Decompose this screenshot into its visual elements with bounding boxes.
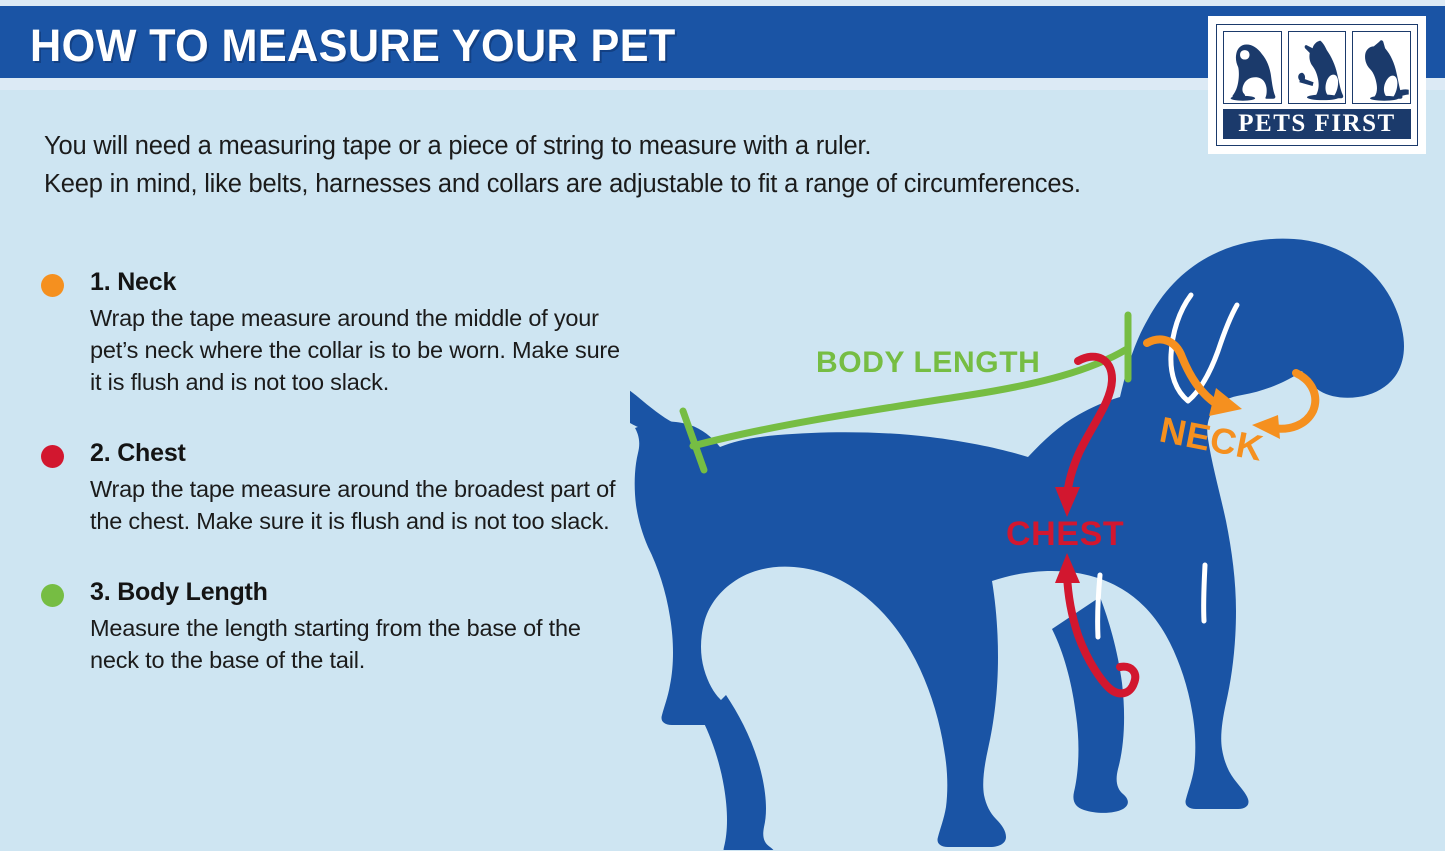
measurement-steps-list: 1. Neck Wrap the tape measure around the… (38, 268, 638, 717)
bullet-dot-body-length (41, 584, 64, 607)
alert-dog-silhouette-icon (1352, 31, 1411, 104)
bottom-accent-strip (0, 851, 1445, 860)
logo-wordmark: PETS FIRST (1223, 109, 1411, 139)
logo-dog-panels (1223, 31, 1411, 104)
step-title-body-length: 3. Body Length (90, 578, 638, 607)
step-body-neck: Wrap the tape measure around the middle … (90, 302, 635, 398)
label-body-length: BODY LENGTH (816, 346, 1040, 379)
intro-line-2: Keep in mind, like belts, harnesses and … (44, 165, 1194, 203)
page-title: HOW TO MEASURE YOUR PET (30, 20, 676, 72)
bullet-dot-chest (41, 445, 64, 468)
intro-paragraph: You will need a measuring tape or a piec… (44, 127, 1194, 203)
step-body-chest: Wrap the tape measure around the broades… (90, 473, 635, 537)
step-item-body-length: 3. Body Length Measure the length starti… (38, 578, 638, 676)
step-title-chest: 2. Chest (90, 439, 638, 468)
dog-measurement-diagram: BODY LENGTH NECK CHEST (630, 225, 1445, 850)
sitting-dog-silhouette-icon (1223, 31, 1282, 104)
step-body-body-length: Measure the length starting from the bas… (90, 612, 635, 676)
label-chest: CHEST (1006, 515, 1124, 553)
intro-line-1: You will need a measuring tape or a piec… (44, 127, 1194, 165)
pets-first-logo: PETS FIRST (1208, 16, 1426, 154)
step-item-chest: 2. Chest Wrap the tape measure around th… (38, 439, 638, 537)
logo-frame: PETS FIRST (1216, 24, 1418, 146)
step-title-neck: 1. Neck (90, 268, 638, 297)
dog-leg-crease-rear (1204, 565, 1205, 621)
infographic-page: HOW TO MEASURE YOUR PET (0, 0, 1445, 860)
step-item-neck: 1. Neck Wrap the tape measure around the… (38, 268, 638, 398)
howling-dog-silhouette-icon (1288, 31, 1347, 104)
dog-leg-crease-front (1098, 575, 1100, 637)
bullet-dot-neck (41, 274, 64, 297)
